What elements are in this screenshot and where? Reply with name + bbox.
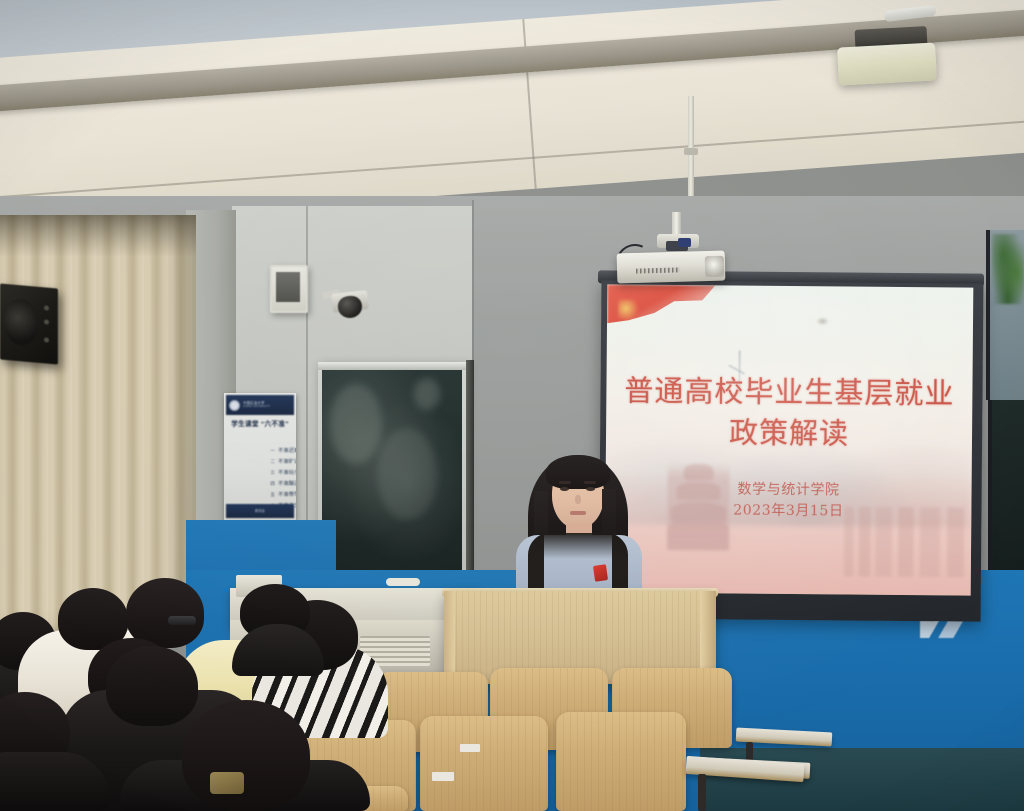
projector-lens-icon — [705, 256, 725, 277]
list-item: 三不准玩手机 — [269, 467, 296, 478]
slide-smudge — [816, 317, 829, 325]
poster-rules-list: 一不准迟到早退 二不准旷课违纪 三不准玩手机 四不准酗酒学习 五不准带早点饮 六… — [229, 445, 296, 511]
wall-speaker-white — [270, 265, 308, 313]
presenter-badge — [593, 564, 608, 582]
vga-plug-icon — [678, 238, 691, 247]
poster-org-sub: CHINA UNIVERSITY — [243, 405, 270, 409]
plant-icon — [992, 234, 1024, 304]
poster-header: 中国石油大学 CHINA UNIVERSITY — [226, 395, 294, 415]
presenter-hair-front — [546, 455, 610, 489]
chair-tag — [432, 772, 454, 781]
list-item: 二不准旷课违纪 — [269, 456, 296, 467]
list-item: 一不准迟到早退 — [269, 445, 296, 456]
flag-stars-icon — [618, 300, 644, 320]
desk-handle — [386, 578, 420, 586]
poster-footer: 教务处 — [226, 504, 294, 518]
glasses-icon — [168, 616, 196, 625]
wall-poster: 中国石油大学 CHINA UNIVERSITY 学生课堂 “六不准” 一不准迟到… — [224, 393, 296, 520]
desk-leg — [698, 774, 706, 811]
classroom-photograph: 中国石油大学 CHINA UNIVERSITY 学生课堂 “六不准” 一不准迟到… — [0, 0, 1024, 811]
slide-date: 2023年3月15日 — [605, 499, 971, 523]
slide-title-line1: 普通高校毕业生基层就业 — [606, 371, 972, 415]
chair — [420, 716, 548, 811]
slide-title-line2: 政策解读 — [606, 412, 972, 456]
slide-subtitle: 数学与统计学院 2023年3月15日 — [605, 478, 971, 523]
list-item: 四不准酗酒学习 — [269, 478, 296, 489]
slide-title: 普通高校毕业生基层就业 政策解读 — [606, 371, 973, 456]
curtain-shadow — [0, 215, 196, 257]
hair-clip-icon — [210, 772, 244, 794]
chalkboard — [322, 370, 462, 573]
conduit-clip — [684, 148, 698, 155]
poster-footer-text: 教务处 — [226, 504, 294, 518]
chair — [556, 712, 686, 811]
university-logo-icon — [229, 400, 240, 411]
podium-edge-left — [444, 591, 455, 684]
curtain — [0, 215, 196, 635]
wall-speaker-black — [0, 283, 58, 364]
poster-title: 学生课堂 “六不准” — [224, 418, 296, 428]
projection-screen: 普通高校毕业生基层就业 政策解读 数学与统计学院 2023年3月15日 — [605, 284, 974, 595]
list-item: 五不准带早点饮 — [269, 489, 296, 500]
chalkboard-edge — [466, 360, 474, 586]
presenter — [498, 447, 658, 607]
ceiling-light-icon — [837, 42, 937, 85]
chair-tag — [460, 744, 480, 752]
chalkboard-rail-top — [318, 362, 468, 370]
